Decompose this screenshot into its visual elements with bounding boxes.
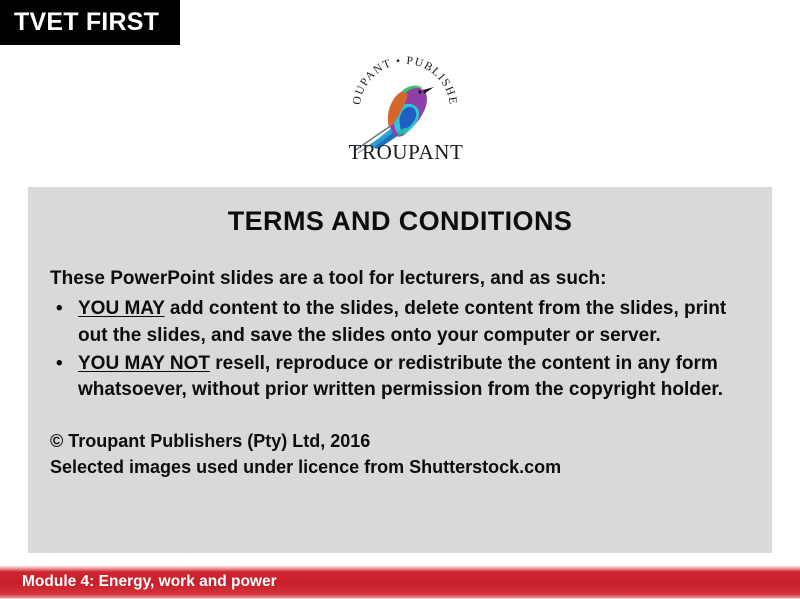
image-licence-line: Selected images used under licence from …	[50, 455, 754, 481]
copyright-line: © Troupant Publishers (Pty) Ltd, 2016	[50, 429, 754, 455]
page-title: TERMS AND CONDITIONS	[46, 207, 754, 237]
module-footer-label: Module 4: Energy, work and power	[0, 574, 277, 590]
bullet-icon: •	[56, 296, 63, 322]
bird-eye	[418, 90, 421, 93]
bird-beak	[423, 87, 434, 94]
terms-content-panel: TERMS AND CONDITIONS These PowerPoint sl…	[28, 187, 772, 553]
module-footer-bar: Module 4: Energy, work and power	[0, 565, 800, 599]
list-item-body: add content to the slides, delete conten…	[78, 298, 726, 345]
copyright-block: © Troupant Publishers (Pty) Ltd, 2016 Se…	[50, 429, 754, 480]
list-item: • YOU MAY NOT resell, reproduce or redis…	[50, 351, 754, 403]
slide-canvas: TVET FIRST TROUPANT • PUBLISHERS TROUPAN…	[0, 0, 800, 599]
troupant-publishers-logo: TROUPANT • PUBLISHERS TROUPANT • PUBLISH…	[340, 47, 470, 165]
list-item-lead: YOU MAY NOT	[78, 353, 210, 374]
brand-banner: TVET FIRST	[0, 0, 180, 45]
bullet-icon: •	[56, 351, 63, 377]
terms-bullet-list: • YOU MAY add content to the slides, del…	[46, 296, 754, 403]
list-item-lead: YOU MAY	[78, 298, 165, 319]
list-item: • YOU MAY add content to the slides, del…	[50, 296, 754, 348]
logo-wordmark: TROUPANT	[349, 140, 464, 164]
intro-paragraph: These PowerPoint slides are a tool for l…	[50, 267, 754, 291]
brand-banner-label: TVET FIRST	[14, 10, 159, 35]
